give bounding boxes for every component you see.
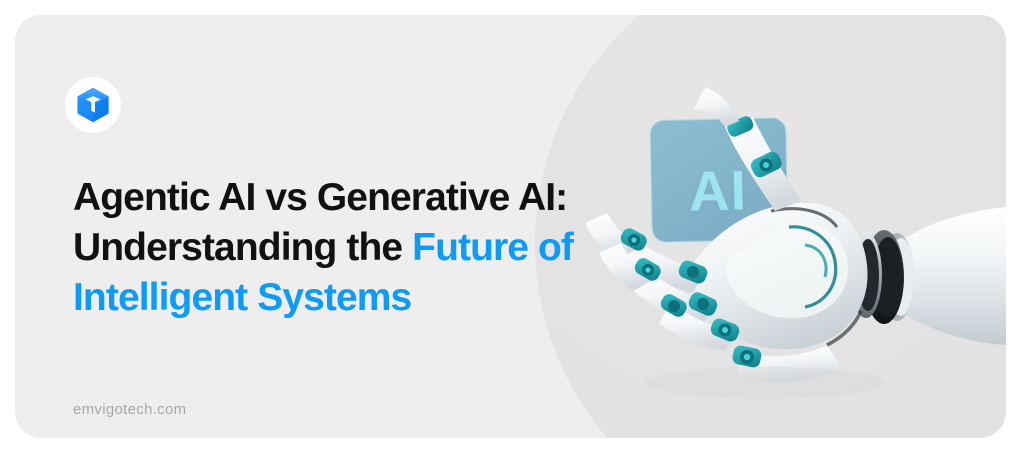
headline-line-2-plain: Understanding the xyxy=(73,226,412,269)
site-url[interactable]: emvigotech.com xyxy=(73,401,186,418)
robot-hand-illustration xyxy=(575,15,1006,438)
banner-card: Agentic AI vs Generative AI: Understandi… xyxy=(15,15,1006,438)
headline-line-2-accent: Future of xyxy=(412,226,573,269)
headline: Agentic AI vs Generative AI: Understandi… xyxy=(73,173,633,323)
headline-line-1: Agentic AI vs Generative AI: xyxy=(73,173,633,223)
brand-logo[interactable] xyxy=(65,77,121,133)
cube-logo-icon xyxy=(76,87,110,123)
headline-line-3: Intelligent Systems xyxy=(73,273,633,323)
headline-line-2: Understanding the Future of xyxy=(73,223,633,273)
